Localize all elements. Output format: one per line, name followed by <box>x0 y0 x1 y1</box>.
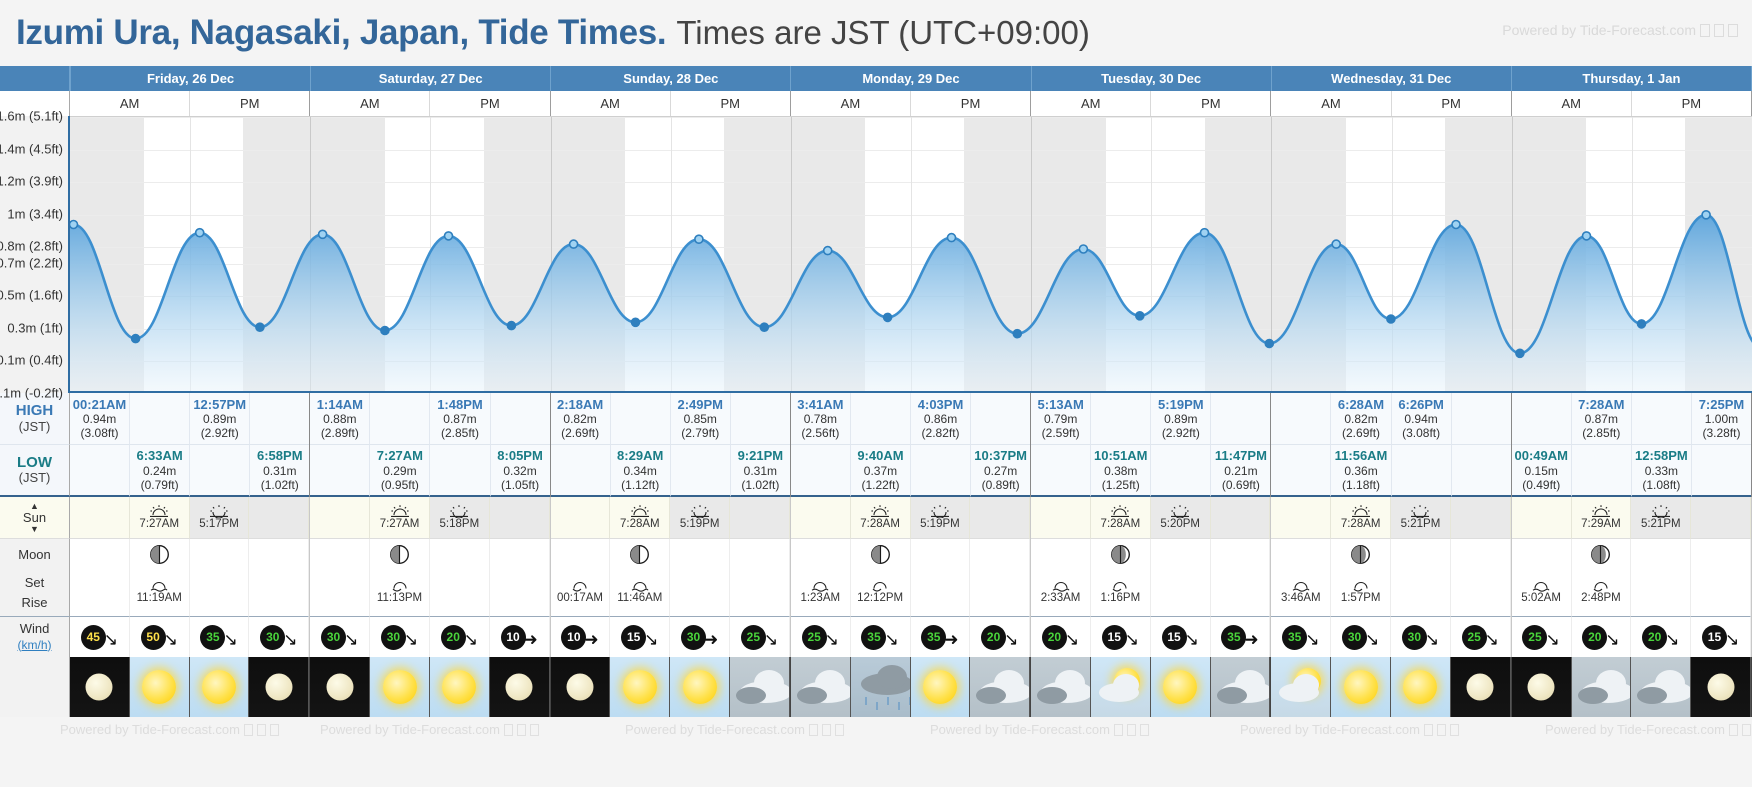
wind-speed-badge[interactable]: 45 <box>81 625 106 650</box>
wind-direction-arrow-icon: ↘ <box>1725 631 1739 648</box>
weather-cloudy-icon <box>1631 657 1690 717</box>
weather-cell[interactable] <box>1572 657 1632 717</box>
low-tide-cell: 9:40AM0.37m(1.22ft) <box>851 445 911 497</box>
tide-extreme-point[interactable] <box>1332 240 1340 248</box>
low-tide-cell: 6:33AM0.24m(0.79ft) <box>130 445 190 497</box>
moon-event-cell <box>249 569 309 617</box>
moon-phase-row: Moon <box>0 539 1752 569</box>
low-tide-feet: (1.12ft) <box>621 478 659 492</box>
wind-cell: 35↘ <box>1271 617 1331 657</box>
moon-event-time: 11:19AM <box>137 592 182 606</box>
low-tide-cell: 12:58PM0.33m(1.08ft) <box>1632 445 1692 497</box>
day-header-label: Thursday, 1 Jan <box>1582 71 1680 86</box>
weather-cell[interactable] <box>1091 657 1151 717</box>
moon-icon <box>506 674 533 701</box>
low-tide-day-0: 6:33AM0.24m(0.79ft)6:58PM0.31m(1.02ft) <box>70 445 310 497</box>
weather-cloudy-icon <box>1031 657 1090 717</box>
wind-direction-arrow-icon: ↘ <box>1425 631 1439 648</box>
wind-day-3: 25↘35↘35➜20↘ <box>791 617 1031 657</box>
low-tide-cell: 9:21PM0.31m(1.02ft) <box>731 445 790 497</box>
watermark-box-icon <box>1140 724 1149 736</box>
high-tide-cell <box>130 393 190 445</box>
low-tide-feet: (1.18ft) <box>1342 478 1380 492</box>
pm-header-2: PM <box>671 91 790 116</box>
sunset-time: 5:18PM <box>440 518 480 532</box>
sunset-cell: 5:17PM <box>190 497 250 539</box>
high-tide-meters: 0.94m <box>1404 412 1437 426</box>
high-tide-label: HIGH (JST) <box>0 393 70 445</box>
high-tide-time: 1:48PM <box>437 397 483 412</box>
high-tide-cell: 6:26PM0.94m(3.08ft) <box>1392 393 1452 445</box>
day-header-label: Friday, 26 Dec <box>147 71 234 86</box>
tide-extreme-point[interactable] <box>132 335 140 343</box>
moon-phase-cell <box>1512 539 1572 569</box>
moon-event-cell: 11:13PM <box>370 569 430 617</box>
moon-icon <box>326 674 353 701</box>
weather-label <box>0 657 70 717</box>
footer-watermark: Powered by Tide-Forecast.com <box>60 722 279 737</box>
moon-event-day-2: 00:17AM11:46AM <box>551 569 791 617</box>
sunset-time: 5:20PM <box>1160 518 1200 532</box>
high-tide-time: 5:13AM <box>1038 397 1084 412</box>
moon-event-time: 12:12PM <box>857 592 903 606</box>
ampm-group-3: AMPM <box>791 91 1031 116</box>
tide-extreme-point[interactable] <box>570 240 578 248</box>
tide-extreme-point[interactable] <box>760 323 768 331</box>
sun-label: ▲ Sun ▼ <box>0 497 70 539</box>
low-tide-meters: 0.37m <box>864 464 897 478</box>
watermark-box-icon <box>1714 24 1724 37</box>
moon-phase-cell <box>130 539 190 569</box>
tide-extreme-point[interactable] <box>1452 221 1460 229</box>
sun-day-3: 7:28AM5:19PM <box>791 497 1031 539</box>
high-tide-meters: 0.82m <box>1344 412 1377 426</box>
weather-cell[interactable] <box>730 657 790 717</box>
tide-extreme-point[interactable] <box>1201 229 1209 237</box>
moon-event-cell <box>1451 569 1511 617</box>
y-axis-tick: 0.5m (1.6ft) <box>0 288 63 303</box>
wind-speed-badge[interactable]: 30 <box>260 625 285 650</box>
low-tide-feet: (1.22ft) <box>861 478 899 492</box>
moon-phase-cell <box>851 539 911 569</box>
moon-icon <box>566 674 593 701</box>
moon-setrise-label: Set Rise <box>0 569 70 617</box>
sun-cell <box>310 497 370 539</box>
moon-event-cell: 11:19AM <box>130 569 190 617</box>
watermark-box-icon <box>517 724 526 736</box>
sunset-cell: 5:21PM <box>1631 497 1691 539</box>
high-tide-feet: (2.69ft) <box>561 426 599 440</box>
weather-sunny-icon <box>610 657 669 717</box>
weather-sunny-icon <box>1391 657 1450 717</box>
weather-cell[interactable] <box>1151 657 1211 717</box>
sunrise-cell: 7:28AM <box>610 497 670 539</box>
sunrise-time: 7:27AM <box>380 518 420 532</box>
day-header-5[interactable]: Wednesday, 31 Dec <box>1272 66 1512 91</box>
wind-speed-badge[interactable]: 30 <box>381 625 406 650</box>
tide-extreme-point[interactable] <box>1136 312 1144 320</box>
moon-event-cell: 2:48PM <box>1572 569 1632 617</box>
day-header-1[interactable]: Saturday, 27 Dec <box>311 66 551 91</box>
sunrise-cell: 7:29AM <box>1572 497 1632 539</box>
low-tide-cell: 8:05PM0.32m(1.05ft) <box>491 445 550 497</box>
wind-speed-badge[interactable]: 15 <box>621 625 646 650</box>
low-tide-feet: (0.89ft) <box>982 478 1020 492</box>
moon-phase-cell <box>430 539 490 569</box>
wind-speed-badge[interactable]: 25 <box>802 625 827 650</box>
low-tide-meters: 0.15m <box>1525 464 1558 478</box>
low-tide-meters: 0.34m <box>624 464 657 478</box>
high-tide-cell <box>851 393 911 445</box>
wind-speed-badge[interactable]: 10 <box>561 625 586 650</box>
tide-extreme-point[interactable] <box>1583 232 1591 240</box>
moon-event-cell <box>430 569 490 617</box>
sunrise-icon <box>1350 504 1372 518</box>
wind-speed-badge[interactable]: 15 <box>1702 625 1727 650</box>
wind-speed-badge[interactable]: 35 <box>861 625 886 650</box>
low-tide-feet: (1.05ft) <box>501 478 539 492</box>
cloud-shape-icon <box>1113 674 1139 696</box>
wind-direction-arrow-icon: ↘ <box>464 631 478 648</box>
weather-cell[interactable] <box>370 657 430 717</box>
footer-watermarks: Powered by Tide-Forecast.comPowered by T… <box>0 717 1752 743</box>
weather-cell[interactable] <box>1031 657 1091 717</box>
high-tide-meters: 0.88m <box>323 412 356 426</box>
raindrop-icon <box>876 702 878 710</box>
low-tide-cell <box>1692 445 1751 497</box>
tide-extreme-point[interactable] <box>1387 315 1395 323</box>
tide-extreme-point[interactable] <box>319 230 327 238</box>
wind-speed-badge[interactable]: 20 <box>1642 625 1667 650</box>
moon-phase-cell <box>1271 539 1331 569</box>
sunset-time: 5:19PM <box>920 518 960 532</box>
wind-cell: 15↘ <box>610 617 670 657</box>
high-tide-cell <box>971 393 1030 445</box>
wind-direction-arrow-icon: ↘ <box>164 631 178 648</box>
ampm-group-0: AMPM <box>70 91 310 116</box>
sun-cell <box>70 497 130 539</box>
tide-extreme-point[interactable] <box>70 221 78 229</box>
watermark-box-icon <box>1114 724 1123 736</box>
weather-cell[interactable] <box>1331 657 1391 717</box>
tide-chart: 1.6m (5.1ft)1.4m (4.5ft)1.2m (3.9ft)1m (… <box>0 116 1752 393</box>
tide-extreme-point[interactable] <box>445 232 453 240</box>
wind-cell: 30↘ <box>1331 617 1391 657</box>
wind-speed-badge[interactable]: 20 <box>981 625 1006 650</box>
weather-cell[interactable] <box>1631 657 1691 717</box>
ampm-group-6: AMPM <box>1512 91 1752 116</box>
day-header-4[interactable]: Tuesday, 30 Dec <box>1032 66 1272 91</box>
wind-cell: 25↘ <box>1451 617 1511 657</box>
weather-cell[interactable] <box>1691 657 1751 717</box>
y-axis-tick: 1.2m (3.9ft) <box>0 174 63 189</box>
moon-icon <box>265 674 292 701</box>
weather-cell[interactable] <box>70 657 130 717</box>
moon-event-day-3: 1:23AM12:12PM <box>791 569 1031 617</box>
moon-phase-cell <box>490 539 550 569</box>
moon-phase-day-3 <box>791 539 1031 569</box>
pm-header-3: PM <box>911 91 1030 116</box>
wind-speed-badge[interactable]: 35 <box>1221 625 1246 650</box>
weather-cell[interactable] <box>610 657 670 717</box>
wind-cell: 25↘ <box>1512 617 1572 657</box>
low-tide-cell: 11:56AM0.36m(1.18ft) <box>1331 445 1391 497</box>
wind-direction-arrow-icon: ➜ <box>704 631 718 648</box>
wind-direction-arrow-icon: ↘ <box>1605 631 1619 648</box>
low-tide-meters: 0.33m <box>1645 464 1678 478</box>
moonset-icon <box>1051 579 1071 592</box>
wind-cell: 20↘ <box>1631 617 1691 657</box>
corner-cell <box>0 66 70 91</box>
moon-phase-icon <box>629 544 650 565</box>
sunrise-cell: 7:28AM <box>1091 497 1151 539</box>
wind-speed-badge[interactable]: 20 <box>1582 625 1607 650</box>
wind-speed-badge[interactable]: 10 <box>501 625 526 650</box>
wind-speed-badge[interactable]: 35 <box>1282 625 1307 650</box>
high-tide-day-1: 1:14AM0.88m(2.89ft)1:48PM0.87m(2.85ft) <box>310 393 550 445</box>
tide-extreme-point[interactable] <box>1265 340 1273 348</box>
footer-watermark-text: Powered by Tide-Forecast.com <box>1240 722 1420 737</box>
wind-speed-badge[interactable]: 30 <box>321 625 346 650</box>
footer-watermark: Powered by Tide-Forecast.com <box>930 722 1149 737</box>
wind-speed-badge[interactable]: 50 <box>141 625 166 650</box>
weather-cell[interactable] <box>911 657 971 717</box>
weather-night-clear-icon <box>310 657 369 717</box>
wind-direction-arrow-icon: ↘ <box>1125 631 1139 648</box>
weather-cell[interactable] <box>130 657 190 717</box>
moonrise-icon <box>570 579 590 592</box>
day-header-2[interactable]: Sunday, 28 Dec <box>551 66 791 91</box>
weather-cell[interactable] <box>430 657 490 717</box>
weather-cell[interactable] <box>970 657 1030 717</box>
wind-speed-badge[interactable]: 20 <box>1042 625 1067 650</box>
sunset-time: 5:21PM <box>1641 518 1681 532</box>
watermark-box-icon <box>504 724 513 736</box>
high-tide-cell <box>250 393 309 445</box>
sun-cell <box>1691 497 1751 539</box>
weather-day-6 <box>1512 657 1752 717</box>
pm-header-6: PM <box>1632 91 1751 116</box>
weather-cell[interactable] <box>1512 657 1572 717</box>
tide-extreme-point[interactable] <box>381 327 389 335</box>
low-tide-cell <box>1271 445 1331 497</box>
day-header-3[interactable]: Monday, 29 Dec <box>791 66 1031 91</box>
low-tide-feet: (1.25ft) <box>1102 478 1140 492</box>
weather-cell[interactable] <box>551 657 611 717</box>
moon-phase-cell <box>1151 539 1211 569</box>
low-tide-meters: 0.24m <box>143 464 176 478</box>
sunrise-icon <box>389 504 411 518</box>
tide-extreme-point[interactable] <box>632 318 640 326</box>
moon-event-time: 1:23AM <box>800 592 840 606</box>
high-tide-day-2: 2:18AM0.82m(2.69ft)2:49PM0.85m(2.79ft) <box>551 393 791 445</box>
tide-extreme-point[interactable] <box>196 229 204 237</box>
moon-event-cell <box>190 569 250 617</box>
am-header-1: AM <box>310 91 430 116</box>
day-header-0[interactable]: Friday, 26 Dec <box>70 66 311 91</box>
y-axis-tick: 0.8m (2.8ft) <box>0 239 63 254</box>
sun-cell <box>730 497 790 539</box>
wind-cell: 15↘ <box>1091 617 1151 657</box>
weather-night-clear-icon <box>1451 657 1510 717</box>
moon-event-cell <box>970 569 1030 617</box>
low-tide-time: 10:51AM <box>1094 448 1147 463</box>
high-tide-cell: 7:28AM0.87m(2.85ft) <box>1572 393 1632 445</box>
moonset-icon <box>630 579 650 592</box>
am-header-5: AM <box>1271 91 1391 116</box>
moon-icon <box>1707 674 1734 701</box>
sun-icon <box>683 670 717 704</box>
tide-extreme-point[interactable] <box>824 247 832 255</box>
y-axis-tick: 0.7m (2.2ft) <box>0 255 63 270</box>
high-tide-feet: (2.82ft) <box>922 426 960 440</box>
low-tide-unit: (JST) <box>19 471 51 486</box>
low-tide-time: 10:37PM <box>974 448 1027 463</box>
weather-row <box>0 657 1752 717</box>
tide-extreme-point[interactable] <box>1516 349 1524 357</box>
wind-day-6: 25↘20↘20↘15↘ <box>1512 617 1752 657</box>
weather-cell[interactable] <box>310 657 370 717</box>
weather-cell[interactable] <box>1211 657 1271 717</box>
wind-speed-badge[interactable]: 25 <box>741 625 766 650</box>
low-tide-cell: 11:47PM0.21m(0.69ft) <box>1211 445 1270 497</box>
wind-speed-badge[interactable]: 15 <box>1162 625 1187 650</box>
moon-phase-cell <box>249 539 309 569</box>
moonset-icon <box>149 579 169 592</box>
low-tide-time: 6:58PM <box>257 448 303 463</box>
sun-icon <box>1163 670 1197 704</box>
wind-speed-badge[interactable]: 25 <box>1522 625 1547 650</box>
weather-cell[interactable] <box>249 657 309 717</box>
low-tide-cell: 6:58PM0.31m(1.02ft) <box>250 445 309 497</box>
high-tide-feet: (2.92ft) <box>1162 426 1200 440</box>
weather-cell[interactable] <box>190 657 250 717</box>
weather-cell[interactable] <box>791 657 851 717</box>
high-tide-feet: (2.89ft) <box>321 426 359 440</box>
weather-night-clear-icon <box>1691 657 1750 717</box>
moon-setrise-row: Set Rise 11:19AM11:13PM00:17AM11:46AM1:2… <box>0 569 1752 617</box>
footer-watermark-text: Powered by Tide-Forecast.com <box>1545 722 1725 737</box>
wind-speed-badge[interactable]: 35 <box>200 625 225 650</box>
y-axis-tick: 1m (3.4ft) <box>7 206 63 221</box>
wind-direction-arrow-icon: ↘ <box>764 631 778 648</box>
am-header-0: AM <box>70 91 190 116</box>
high-tide-cell: 7:25PM1.00m(3.28ft) <box>1692 393 1751 445</box>
high-tide-time: 00:21AM <box>73 397 126 412</box>
tide-extreme-point[interactable] <box>1638 320 1646 328</box>
wind-speed-badge[interactable]: 15 <box>1102 625 1127 650</box>
high-tide-time: 2:18AM <box>557 397 603 412</box>
high-tide-time: 7:28AM <box>1578 397 1624 412</box>
wind-speed-badge[interactable]: 30 <box>681 625 706 650</box>
tide-extreme-point[interactable] <box>507 322 515 330</box>
sunset-icon <box>1169 504 1191 518</box>
weather-sunny-icon <box>911 657 970 717</box>
tide-extreme-point[interactable] <box>884 313 892 321</box>
low-tide-label-text: LOW <box>17 454 52 471</box>
weather-night-clear-icon <box>490 657 549 717</box>
moon-event-time: 2:48PM <box>1581 592 1621 606</box>
low-tide-time: 11:56AM <box>1335 448 1388 463</box>
weather-day-4 <box>1031 657 1271 717</box>
tide-curve <box>70 117 1752 393</box>
wind-speed-badge[interactable]: 25 <box>1462 625 1487 650</box>
high-tide-day-0: 00:21AM0.94m(3.08ft)12:57PM0.89m(2.92ft) <box>70 393 310 445</box>
sun-cell <box>791 497 851 539</box>
weather-sunny-icon <box>1151 657 1210 717</box>
weather-cell[interactable] <box>1271 657 1331 717</box>
high-tide-day-4: 5:13AM0.79m(2.59ft)5:19PM0.89m(2.92ft) <box>1031 393 1271 445</box>
sun-day-4: 7:28AM5:20PM <box>1031 497 1271 539</box>
tide-extreme-point[interactable] <box>1079 245 1087 253</box>
sunset-time: 5:19PM <box>680 518 720 532</box>
wind-speed-badge[interactable]: 30 <box>1342 625 1367 650</box>
moon-event-time: 2:33AM <box>1041 592 1081 606</box>
sunset-icon <box>929 504 951 518</box>
sunrise-cell: 7:28AM <box>1331 497 1391 539</box>
tide-extreme-point[interactable] <box>1702 211 1710 219</box>
low-tide-feet: (0.95ft) <box>381 478 419 492</box>
moon-phase-cell <box>1451 539 1511 569</box>
high-tide-feet: (2.92ft) <box>201 426 239 440</box>
tide-extreme-point[interactable] <box>256 323 264 331</box>
moon-event-time: 1:57PM <box>1341 592 1381 606</box>
high-tide-feet: (3.08ft) <box>1402 426 1440 440</box>
weather-cell[interactable] <box>1391 657 1451 717</box>
tide-extreme-point[interactable] <box>948 234 956 242</box>
footer-watermark: Powered by Tide-Forecast.com <box>1240 722 1459 737</box>
high-tide-meters: 0.94m <box>83 412 116 426</box>
moon-event-cell <box>310 569 370 617</box>
moon-event-day-4: 2:33AM1:16PM <box>1031 569 1271 617</box>
weather-cell[interactable] <box>851 657 911 717</box>
day-header-label: Sunday, 28 Dec <box>623 71 718 86</box>
tide-extreme-point[interactable] <box>695 235 703 243</box>
high-tide-cell: 5:13AM0.79m(2.59ft) <box>1031 393 1091 445</box>
day-header-6[interactable]: Thursday, 1 Jan <box>1512 66 1752 91</box>
high-tide-meters: 0.89m <box>203 412 236 426</box>
weather-night-clear-icon <box>1512 657 1571 717</box>
moon-phase-icon <box>1110 544 1131 565</box>
sun-cell <box>1031 497 1091 539</box>
wind-speed-badge[interactable]: 20 <box>441 625 466 650</box>
wind-unit-link[interactable]: (km/h) <box>18 638 52 653</box>
moonset-icon <box>1291 579 1311 592</box>
sunrise-icon <box>148 504 170 518</box>
moon-event-cell <box>1691 569 1751 617</box>
sun-label-text: Sun <box>23 510 46 525</box>
high-tide-time: 4:03PM <box>918 397 964 412</box>
high-tide-cell: 1:14AM0.88m(2.89ft) <box>310 393 370 445</box>
weather-sunny-icon <box>1331 657 1390 717</box>
low-tide-cell <box>1031 445 1091 497</box>
weather-cell[interactable] <box>670 657 730 717</box>
weather-cell[interactable] <box>490 657 550 717</box>
wind-speed-badge[interactable]: 30 <box>1402 625 1427 650</box>
weather-cell[interactable] <box>1451 657 1511 717</box>
wind-speed-badge[interactable]: 35 <box>921 625 946 650</box>
sunrise-time: 7:28AM <box>1101 518 1141 532</box>
sun-cell <box>1451 497 1511 539</box>
low-tide-day-3: 9:40AM0.37m(1.22ft)10:37PM0.27m(0.89ft) <box>791 445 1031 497</box>
moon-phase-cell <box>911 539 971 569</box>
weather-night-clear-icon <box>249 657 308 717</box>
wind-direction-arrow-icon: ↘ <box>1004 631 1018 648</box>
wind-cell: 25↘ <box>791 617 851 657</box>
wind-cell: 25↘ <box>730 617 790 657</box>
tide-extreme-point[interactable] <box>1013 330 1021 338</box>
high-tide-cell <box>1211 393 1270 445</box>
